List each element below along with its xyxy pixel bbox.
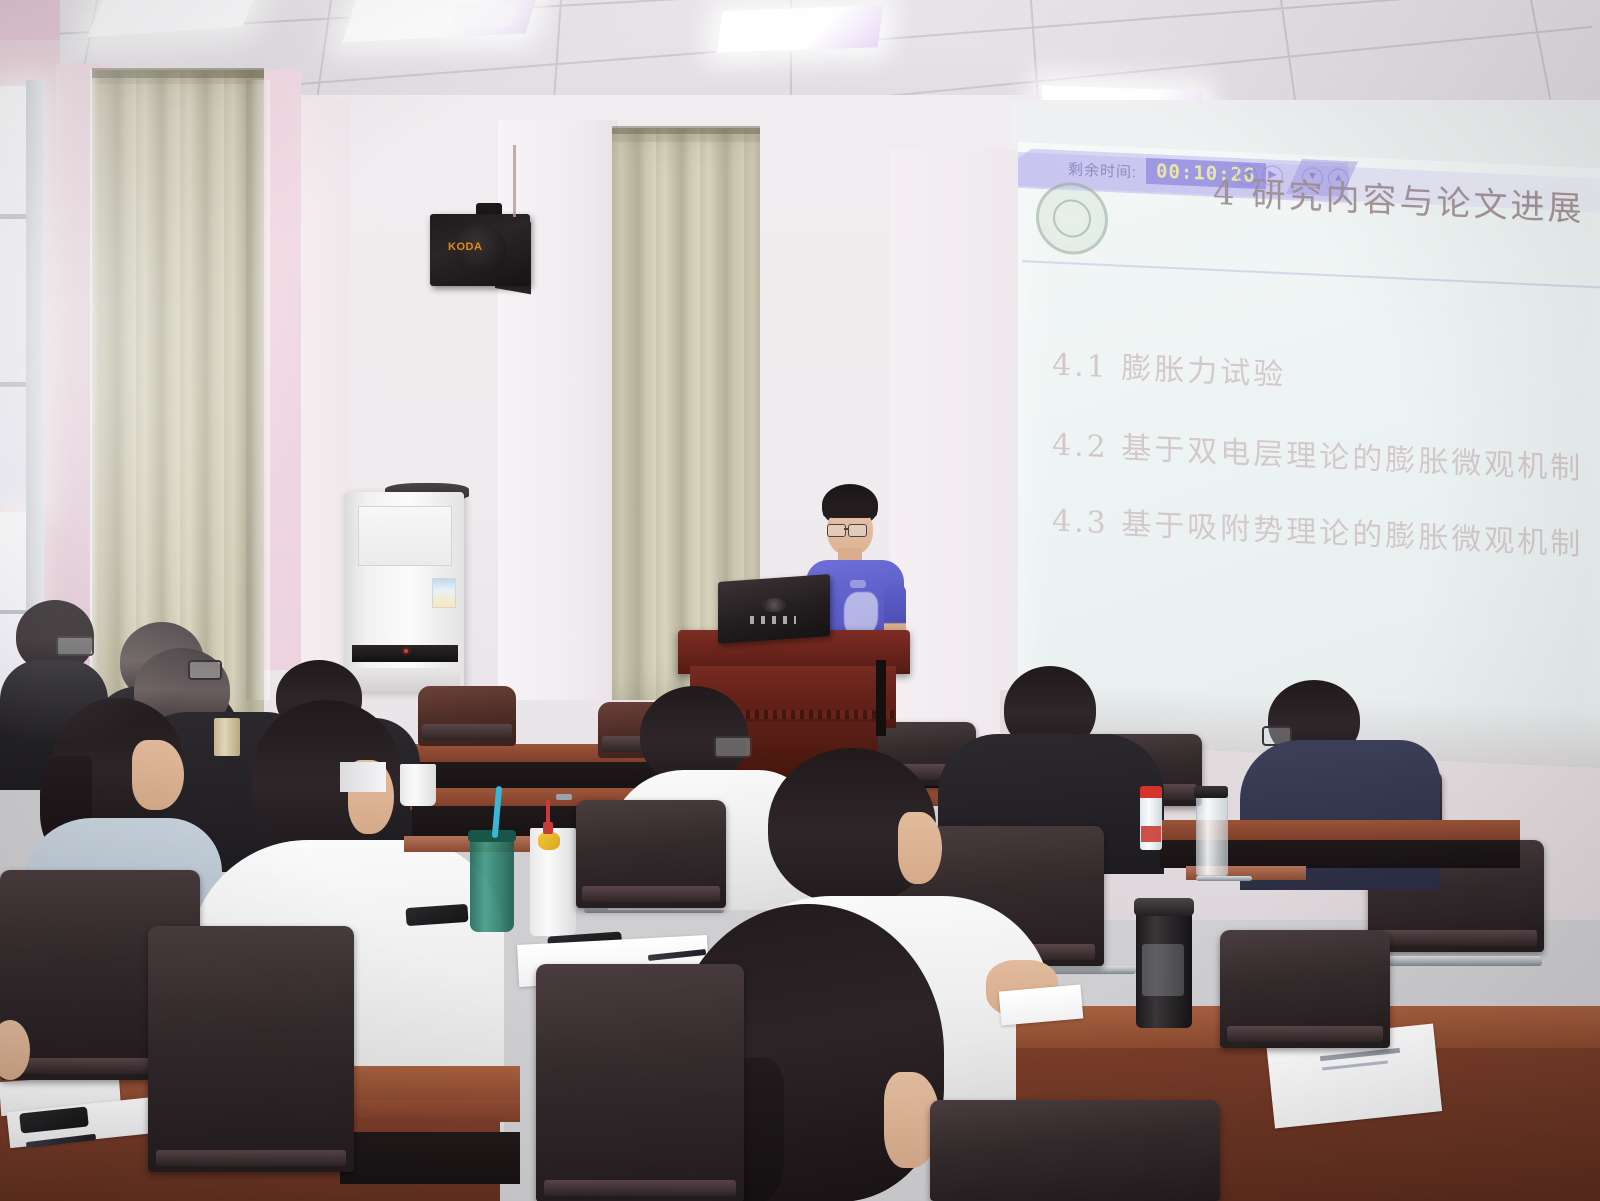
travel-mug-window	[1142, 944, 1184, 996]
pikachu-charm-icon	[538, 832, 560, 850]
glasses-bridge	[844, 528, 849, 530]
water-bottle-label	[1141, 826, 1161, 842]
paper-cup-back[interactable]	[340, 762, 386, 792]
timer-label: 剩余时间:	[1068, 158, 1137, 182]
monitor-button-row[interactable]	[750, 616, 796, 624]
ac-air-outlet	[358, 506, 452, 566]
university-emblem-icon	[1036, 181, 1108, 256]
slide-bullet-1-num: 4.1	[1052, 348, 1109, 386]
slide-bullet-2-num: 4.2	[1052, 428, 1109, 466]
slide-bullet-2: 4.2 基于双电层理论的膨胀微观机制	[1052, 420, 1583, 488]
held-glass-cup[interactable]	[214, 718, 240, 756]
green-tumbler-with-straw[interactable]	[470, 836, 514, 932]
chair-right-mid[interactable]	[1220, 930, 1390, 1048]
paper-cup-mid[interactable]	[400, 764, 436, 806]
ceiling-light-panel-3	[717, 5, 884, 53]
seminar-room-photo: KODA 剩余时间: 00:10:26 ◀ ▶ ▼ ▲ 4 研究内容与论文进展 …	[0, 0, 1600, 1201]
slide-bullet-1-text: 膨胀力试验	[1121, 351, 1286, 393]
desk-front-left-dark	[340, 1132, 520, 1184]
travel-mug-lid	[1134, 898, 1194, 916]
glasses-icon-white-shirt-center	[714, 736, 752, 758]
glasses-icon-left	[827, 524, 846, 537]
projection-screen: 剩余时间: 00:10:26 ◀ ▶ ▼ ▲ 4 研究内容与论文进展 4.1 膨…	[1018, 142, 1600, 769]
speaker-cable	[513, 145, 516, 217]
chair-front-center[interactable]	[536, 964, 744, 1201]
ac-power-led-icon	[404, 649, 408, 653]
slide-bullet-3-num: 4.3	[1052, 504, 1109, 542]
glasses-icon-black-tshirt	[188, 660, 222, 680]
ac-display-panel	[352, 645, 458, 662]
glasses-icon-right	[848, 524, 867, 537]
curtain-rod	[92, 68, 264, 78]
curtain-edge-shadow	[246, 80, 270, 700]
charm-clip	[543, 822, 553, 834]
audience-ear-white-tshirt-front	[898, 812, 942, 884]
slide-bullet-3-text: 基于吸附势理论的膨胀微观机制	[1121, 507, 1583, 563]
mic-stand	[876, 660, 886, 736]
desk-rail-right	[1196, 876, 1252, 881]
desk-rail-clip	[556, 794, 572, 800]
speaker-brand-label: KODA	[448, 241, 488, 253]
tshirt-print-small	[850, 580, 866, 588]
slide-bullet-2-text: 基于双电层理论的膨胀微观机制	[1121, 431, 1583, 487]
paper-sheet-right[interactable]	[999, 984, 1084, 1025]
slide-bullet-3: 4.3 基于吸附势理论的膨胀微观机制	[1052, 496, 1583, 564]
monitor-brand-icon	[762, 598, 786, 612]
audience-face-woman-lightblue	[132, 740, 184, 810]
slide-bullet-1: 4.1 膨胀力试验	[1052, 340, 1286, 395]
ceiling-light-panel-5	[450, 4, 517, 26]
empty-chair-1[interactable]	[418, 686, 516, 746]
glasses-icon-back-left	[56, 636, 94, 656]
chair-front-left-2[interactable]	[148, 926, 354, 1172]
presenter-fringe	[823, 500, 877, 518]
wall-pier	[498, 120, 618, 700]
water-bottle-red-cap	[1140, 786, 1162, 798]
chair-front-right[interactable]	[930, 1100, 1220, 1201]
curtain-rod-2	[612, 126, 760, 134]
slide-title-rule	[1022, 260, 1600, 289]
ac-energy-label-icon	[432, 578, 456, 608]
